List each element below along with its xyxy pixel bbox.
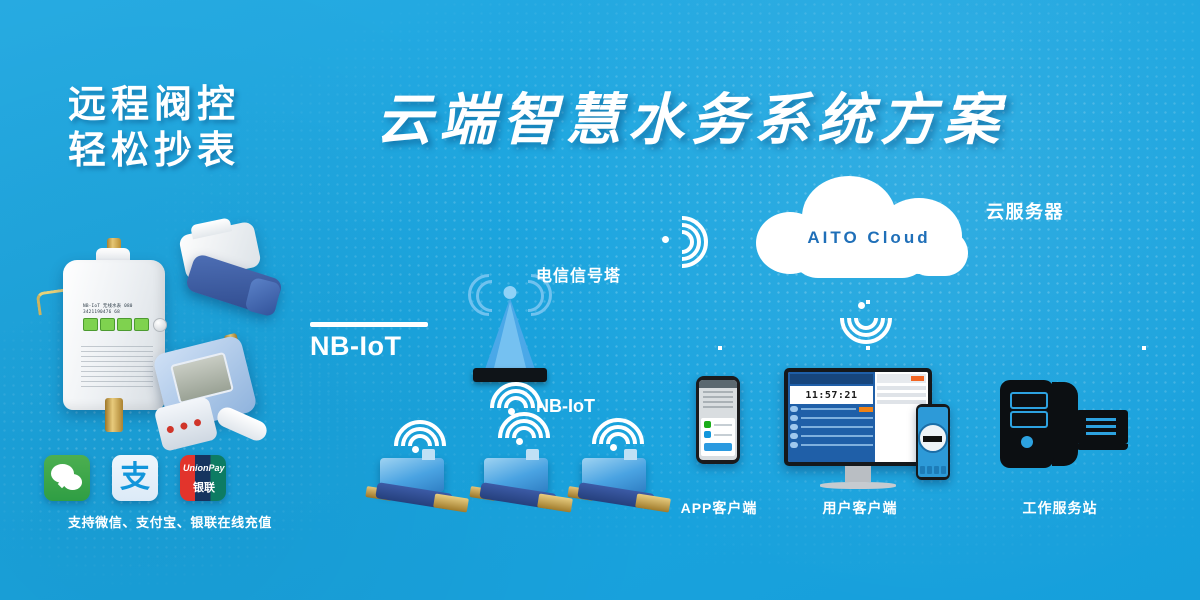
cloud-server-label: 云服务器 <box>986 198 1064 224</box>
wifi-right-icon-to-cloud <box>656 218 700 262</box>
work-service-station-icon <box>1000 380 1128 480</box>
subheading-line-1: 远程阀控 <box>68 82 298 128</box>
page-title: 云端智慧水务系统方案 <box>376 88 1006 152</box>
cloud-server-icon: AITO Cloud <box>756 176 976 286</box>
connector-to-work-station <box>1142 346 1146 380</box>
tower-mast-inner <box>493 302 527 372</box>
alipay-icon[interactable]: 支 <box>112 455 158 501</box>
monitor-clock: 11:57:21 <box>790 386 873 404</box>
connector-to-user-client <box>866 346 870 368</box>
meter-bottom-pipe <box>105 398 123 432</box>
payment-caption: 支持微信、支付宝、银联在线充值 <box>30 512 310 531</box>
payment-icon-row: 支 UnionPay 银联 <box>44 455 226 501</box>
unionpay-label-cn: 银联 <box>193 479 215 495</box>
unionpay-label-en: UnionPay <box>183 463 225 473</box>
nbiot-underline-bar <box>310 322 428 327</box>
blue-water-meter-1 <box>366 458 476 516</box>
valve-meter-knob <box>244 277 281 317</box>
connector-to-app-client <box>718 346 722 376</box>
wifi-down-icon-from-cloud <box>842 292 886 336</box>
tower-base <box>473 368 547 382</box>
blue-water-meter-2 <box>470 458 580 516</box>
subheading-line-2: 轻松抄表 <box>68 128 298 174</box>
meter-digit-display <box>83 318 149 331</box>
app-client-label: APP客户端 <box>676 498 762 518</box>
nbiot-label-main-text: NB-IoT <box>310 331 428 362</box>
telecom-signal-tower-icon <box>468 272 552 382</box>
meter-spec-label <box>81 346 153 388</box>
meter-body: NB-IoT 无线水表 080 3421190476 68 <box>63 260 165 410</box>
connector-bus-line <box>718 346 1146 350</box>
user-client-monitor: 11:57:21 <box>784 368 932 490</box>
cloud-text: AITO Cloud <box>794 228 944 248</box>
meter-serial-text: NB-IoT 无线水表 080 3421190476 68 <box>83 304 161 316</box>
alipay-glyph: 支 <box>120 463 150 493</box>
blue-water-meter-3 <box>568 458 678 516</box>
user-client-label: 用户客户端 <box>812 498 908 518</box>
unionpay-icon[interactable]: UnionPay 银联 <box>180 455 226 501</box>
lcd-smart-water-meter <box>160 330 280 450</box>
connector-cloud-to-bus <box>866 300 870 348</box>
user-client-phone <box>916 404 950 480</box>
nbiot-label-main: NB-IoT <box>310 322 428 362</box>
tower-label: 电信信号塔 <box>536 262 621 286</box>
nb-iot-white-water-meter: NB-IoT 无线水表 080 3421190476 68 <box>55 238 173 428</box>
work-service-station-label: 工作服务站 <box>1012 498 1108 518</box>
wechat-pay-icon[interactable] <box>44 455 90 501</box>
app-client-phone <box>696 376 740 464</box>
subheading: 远程阀控 轻松抄表 <box>68 82 298 174</box>
poster-canvas: 远程阀控 轻松抄表 云端智慧水务系统方案 NB-IoT 无线水表 080 342… <box>0 0 1200 600</box>
nbiot-label-small: NB-IoT <box>536 396 595 417</box>
wifi-up-icon-meter-2 <box>500 412 542 454</box>
